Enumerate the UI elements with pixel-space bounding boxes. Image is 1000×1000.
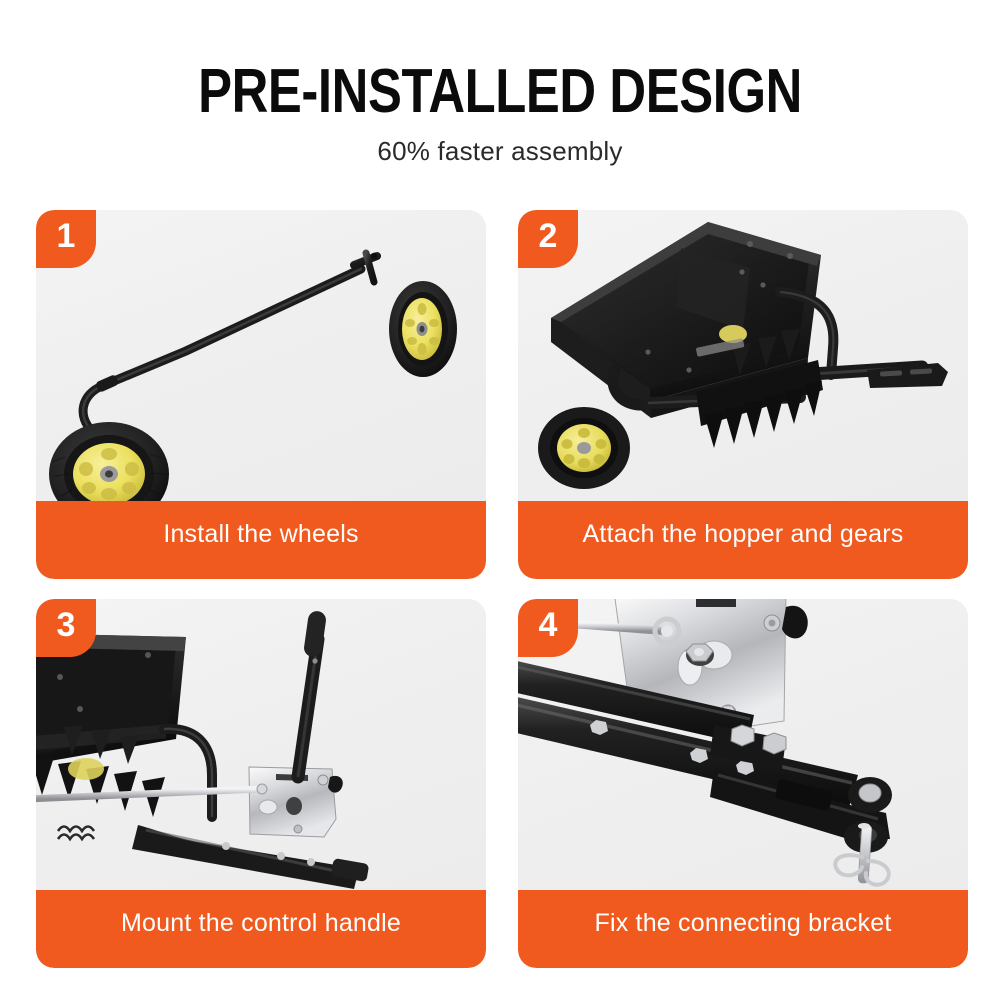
control-handle-lever xyxy=(298,610,327,777)
step-badge-number-4: 4 xyxy=(518,599,578,657)
bar-end-hole xyxy=(371,253,377,259)
step-card-1[interactable]: 1 Install the wheels xyxy=(36,210,486,579)
header: PRE-INSTALLED DESIGN 60% faster assembly xyxy=(0,60,1000,166)
hopper-wheel xyxy=(538,407,630,489)
page-subtitle: 60% faster assembly xyxy=(0,136,1000,166)
step-caption-3: Mount the control handle xyxy=(36,890,486,968)
page-title: PRE-INSTALLED DESIGN xyxy=(90,60,910,124)
control-handle-illustration xyxy=(36,599,486,890)
step-caption-2: Attach the hopper and gears xyxy=(518,501,968,579)
frame-loop xyxy=(164,729,212,817)
tow-bar xyxy=(132,825,369,889)
center-hex-bolt xyxy=(686,644,714,666)
step-caption-4: Fix the connecting bracket xyxy=(518,890,968,968)
wheels-illustration xyxy=(36,210,486,501)
step-card-3[interactable]: 3 Mount the control handle xyxy=(36,599,486,968)
step-3-photo xyxy=(36,599,486,890)
step-4-photo xyxy=(518,599,968,890)
wheel-near xyxy=(49,422,169,501)
black-clip xyxy=(782,606,808,639)
handle-grip xyxy=(303,610,327,658)
spring-coil xyxy=(58,827,94,840)
wheel-far xyxy=(389,281,457,377)
connecting-bracket-illustration xyxy=(518,599,968,890)
infographic-page: PRE-INSTALLED DESIGN 60% faster assembly xyxy=(0,0,1000,1000)
step-card-2[interactable]: 2 Attach the hopper and gears xyxy=(518,210,968,579)
step-badge-number-2: 2 xyxy=(518,210,578,268)
step-1-photo xyxy=(36,210,486,501)
step-badge-number-3: 3 xyxy=(36,599,96,657)
step-2-photo xyxy=(518,210,968,501)
step-badge-number-1: 1 xyxy=(36,210,96,268)
step-caption-1: Install the wheels xyxy=(36,501,486,579)
steps-grid: 1 Install the wheels xyxy=(36,210,968,968)
bar-clamp xyxy=(95,374,120,393)
hopper-illustration xyxy=(518,210,968,501)
step-card-4[interactable]: 4 Fix the connecting bracket xyxy=(518,599,968,968)
axle-bar xyxy=(83,253,377,432)
